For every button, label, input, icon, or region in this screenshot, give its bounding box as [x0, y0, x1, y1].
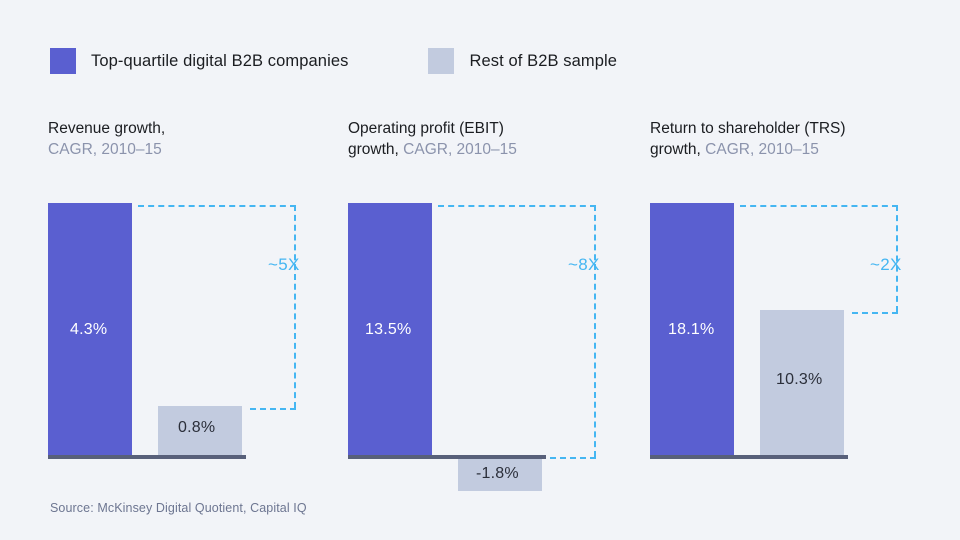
chart-panel-operating-profit-growth: Operating profit (EBIT) growth, CAGR, 20… — [348, 118, 648, 498]
chart-panel-revenue-growth: Revenue growth, CAGR, 2010–15 4.3% 0.8% … — [48, 118, 348, 498]
legend-swatch-secondary — [428, 48, 454, 74]
legend-item-top-quartile: Top-quartile digital B2B companies — [50, 48, 348, 74]
panel-title-line1-main: Operating profit (EBIT) — [348, 120, 504, 137]
bracket-top-line-revenue-growth — [138, 205, 296, 207]
bracket-label-return-to-shareholder-growth: ~2X — [870, 255, 902, 275]
bar-label-primary-revenue-growth: 4.3% — [70, 321, 107, 339]
bar-label-primary-return-to-shareholder-growth: 18.1% — [668, 321, 714, 339]
chart-legend: Top-quartile digital B2B companies Rest … — [50, 48, 617, 74]
panel-title-revenue-growth: Revenue growth, CAGR, 2010–15 — [48, 118, 348, 160]
chart-panel-return-to-shareholder-growth: Return to shareholder (TRS) growth, CAGR… — [650, 118, 950, 498]
bracket-label-revenue-growth: ~5X — [268, 255, 300, 275]
panel-title-line1-main: Revenue growth, — [48, 120, 165, 137]
legend-swatch-primary — [50, 48, 76, 74]
plot-area-operating-profit-growth: 13.5% -1.8% ~8X — [348, 203, 648, 498]
plot-area-revenue-growth: 4.3% 0.8% ~5X — [48, 203, 348, 498]
legend-label-rest-of-sample: Rest of B2B sample — [469, 52, 617, 71]
bracket-right-line-revenue-growth — [294, 205, 296, 408]
panel-title-line2-main: growth, — [348, 141, 399, 158]
panel-title-line1-main: Return to shareholder (TRS) — [650, 120, 846, 137]
baseline-axis — [650, 455, 848, 459]
source-note: Source: McKinsey Digital Quotient, Capit… — [50, 501, 307, 515]
bracket-bottom-line-return-to-shareholder-growth — [852, 312, 898, 314]
bar-label-secondary-revenue-growth: 0.8% — [178, 419, 215, 437]
bracket-bottom-line-revenue-growth — [250, 408, 296, 410]
panel-title-line2-sub: CAGR, 2010–15 — [403, 141, 517, 158]
bracket-label-operating-profit-growth: ~8X — [568, 255, 600, 275]
panel-title-return-to-shareholder-growth: Return to shareholder (TRS) growth, CAGR… — [650, 118, 950, 160]
bracket-top-line-operating-profit-growth — [438, 205, 596, 207]
bar-label-primary-operating-profit-growth: 13.5% — [365, 321, 411, 339]
panel-title-operating-profit-growth: Operating profit (EBIT) growth, CAGR, 20… — [348, 118, 648, 160]
bracket-bottom-line-operating-profit-growth — [550, 457, 596, 459]
baseline-axis — [48, 455, 246, 459]
panel-title-line2-main: growth, — [650, 141, 701, 158]
plot-area-return-to-shareholder-growth: 18.1% 10.3% ~2X — [650, 203, 950, 498]
bracket-right-line-operating-profit-growth — [594, 205, 596, 457]
panel-title-line2-sub: CAGR, 2010–15 — [48, 141, 162, 158]
legend-label-top-quartile: Top-quartile digital B2B companies — [91, 52, 348, 71]
legend-item-rest-of-sample: Rest of B2B sample — [428, 48, 617, 74]
bar-label-secondary-operating-profit-growth: -1.8% — [476, 465, 519, 483]
panel-title-line2-sub: CAGR, 2010–15 — [705, 141, 819, 158]
chart-panels: Revenue growth, CAGR, 2010–15 4.3% 0.8% … — [0, 118, 960, 498]
bar-label-secondary-return-to-shareholder-growth: 10.3% — [776, 371, 822, 389]
bracket-top-line-return-to-shareholder-growth — [740, 205, 898, 207]
